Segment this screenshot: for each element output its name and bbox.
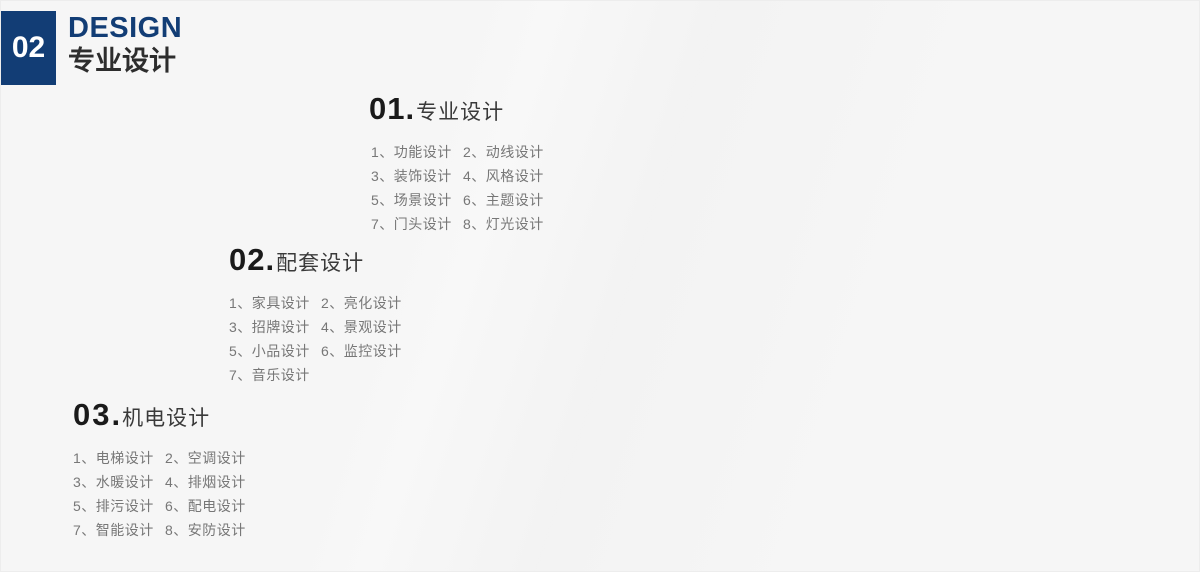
list-item: 7、智能设计 8、安防设计	[73, 518, 246, 542]
list-item-right: 6、监控设计	[321, 339, 402, 363]
section-item-list: 1、电梯设计 2、空调设计 3、水暖设计 4、排烟设计 5、排污设计 6、配电设…	[73, 446, 246, 542]
list-item: 3、装饰设计 4、风格设计	[371, 164, 544, 188]
list-item-right: 2、亮化设计	[321, 291, 402, 315]
list-item-right: 8、安防设计	[165, 518, 246, 542]
section-number: 01	[369, 93, 405, 124]
list-item-left: 7、门头设计	[371, 212, 463, 236]
list-item: 3、水暖设计 4、排烟设计	[73, 470, 246, 494]
list-item-right: 6、主题设计	[463, 188, 544, 212]
list-item-left: 5、小品设计	[229, 339, 321, 363]
section-number-dot: .	[405, 93, 414, 124]
section-title: 配套设计	[276, 253, 364, 274]
list-item: 3、招牌设计 4、景观设计	[229, 315, 402, 339]
section-item-list: 1、家具设计 2、亮化设计 3、招牌设计 4、景观设计 5、小品设计 6、监控设…	[229, 291, 402, 387]
list-item-left: 7、音乐设计	[229, 363, 321, 387]
list-item-left: 5、场景设计	[371, 188, 463, 212]
list-item-right: 6、配电设计	[165, 494, 246, 518]
list-item-right: 4、风格设计	[463, 164, 544, 188]
section-number-dot: .	[111, 399, 120, 430]
list-item-left: 3、招牌设计	[229, 315, 321, 339]
list-item-left: 1、电梯设计	[73, 446, 165, 470]
list-item-left: 1、功能设计	[371, 140, 463, 164]
list-item-right: 4、排烟设计	[165, 470, 246, 494]
list-item-left: 1、家具设计	[229, 291, 321, 315]
slide-canvas: 02 DESIGN 专业设计 01 . 专业设计 1、功能设计 2、动线设计 3…	[0, 0, 1200, 572]
list-item-right: 2、动线设计	[463, 140, 544, 164]
list-item-left: 5、排污设计	[73, 494, 165, 518]
section-block-02: 02 . 配套设计 1、家具设计 2、亮化设计 3、招牌设计 4、景观设计 5、…	[229, 244, 402, 387]
section-number-dot: .	[265, 244, 274, 275]
list-item-left: 7、智能设计	[73, 518, 165, 542]
section-badge-number: 02	[12, 33, 45, 63]
section-title: 机电设计	[122, 408, 210, 429]
list-item: 1、功能设计 2、动线设计	[371, 140, 544, 164]
section-badge: 02	[1, 11, 56, 85]
list-item: 5、排污设计 6、配电设计	[73, 494, 246, 518]
section-heading: 01 . 专业设计	[369, 93, 544, 124]
list-item-right: 4、景观设计	[321, 315, 402, 339]
slide-header: 02 DESIGN 专业设计	[1, 11, 182, 85]
list-item: 7、门头设计 8、灯光设计	[371, 212, 544, 236]
list-item: 1、电梯设计 2、空调设计	[73, 446, 246, 470]
section-number: 02	[229, 244, 265, 275]
section-block-01: 01 . 专业设计 1、功能设计 2、动线设计 3、装饰设计 4、风格设计 5、…	[369, 93, 544, 236]
list-item: 5、小品设计 6、监控设计	[229, 339, 402, 363]
list-item: 1、家具设计 2、亮化设计	[229, 291, 402, 315]
list-item-right: 2、空调设计	[165, 446, 246, 470]
section-item-list: 1、功能设计 2、动线设计 3、装饰设计 4、风格设计 5、场景设计 6、主题设…	[371, 140, 544, 236]
list-item-left: 3、水暖设计	[73, 470, 165, 494]
section-number: 03	[73, 399, 111, 430]
list-item: 5、场景设计 6、主题设计	[371, 188, 544, 212]
list-item: 7、音乐设计	[229, 363, 402, 387]
section-heading: 02 . 配套设计	[229, 244, 402, 275]
section-title: 专业设计	[416, 102, 504, 123]
section-heading: 03 . 机电设计	[73, 399, 246, 430]
list-item-right: 8、灯光设计	[463, 212, 544, 236]
list-item-left: 3、装饰设计	[371, 164, 463, 188]
header-title-chinese: 专业设计	[68, 46, 182, 77]
header-text-group: DESIGN 专业设计	[68, 13, 182, 77]
section-block-03: 03 . 机电设计 1、电梯设计 2、空调设计 3、水暖设计 4、排烟设计 5、…	[73, 399, 246, 542]
header-title-english: DESIGN	[68, 13, 182, 45]
